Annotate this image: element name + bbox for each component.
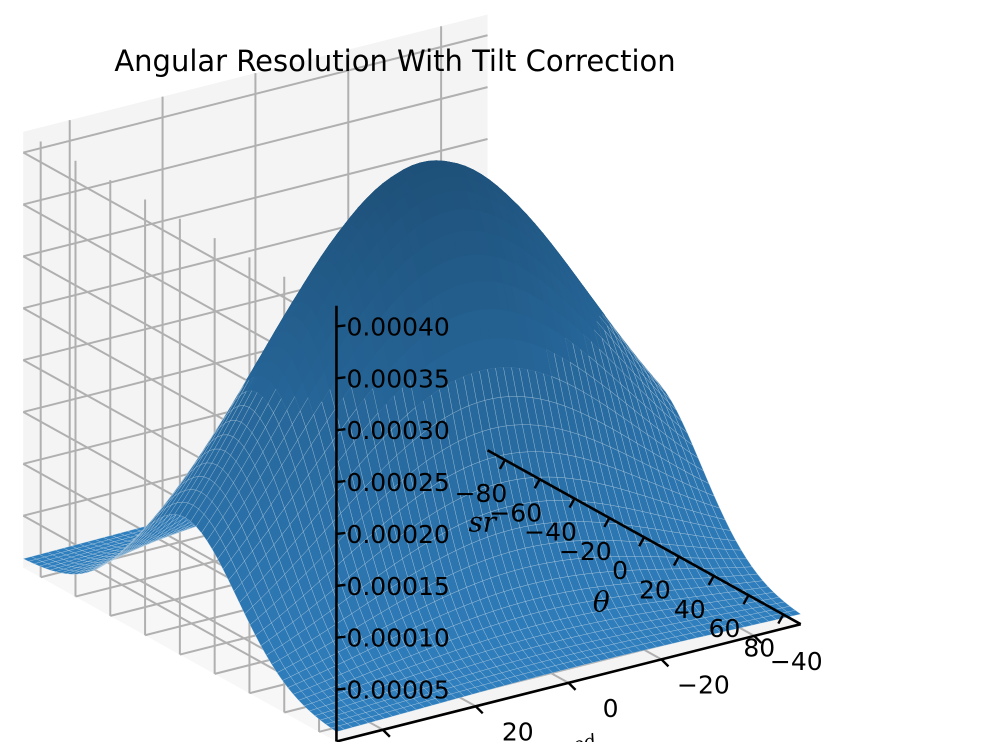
ticklabel-x-6: 40 <box>674 595 706 624</box>
tickmark-y <box>383 730 390 737</box>
page-title: Angular Resolution With Tilt Correction <box>0 44 790 78</box>
ticklabel-y-2: 0 <box>603 694 619 723</box>
tickmark-z <box>336 585 345 586</box>
tickmark-z <box>336 377 345 378</box>
axis-label-y-base: θ <box>596 734 621 742</box>
ticklabel-x-3: −20 <box>559 537 612 566</box>
tickmark-z <box>336 325 345 326</box>
ticklabel-y-1: −20 <box>677 670 730 699</box>
tickmark-z <box>336 637 345 638</box>
ticklabel-z-7: 0.00040 <box>346 312 449 341</box>
axis-label-y: θpolar <box>543 727 621 742</box>
ticklabel-z-6: 0.00035 <box>346 364 449 393</box>
ticklabel-x-5: 20 <box>639 576 671 605</box>
ticklabel-z-0: 0.00005 <box>346 676 449 705</box>
ticklabel-y-0: −40 <box>770 647 823 676</box>
tickmark-z <box>336 429 345 430</box>
ticklabel-z-5: 0.00030 <box>346 416 449 445</box>
tickmark-z <box>336 533 345 534</box>
tickmark-y <box>569 683 576 690</box>
ticklabel-z-4: 0.00025 <box>346 468 449 497</box>
tickmark-z <box>336 481 345 482</box>
surface-3d-plot: −80−60−40−20020406080−40−20020400.000050… <box>0 0 982 742</box>
axis-label-y-subscript: polar <box>543 732 599 742</box>
tickmark-z <box>336 689 345 690</box>
ticklabel-z-2: 0.00015 <box>346 572 449 601</box>
tickmark-y <box>476 706 483 713</box>
ticklabel-x-7: 60 <box>709 614 741 643</box>
ticklabel-z-3: 0.00020 <box>346 520 449 549</box>
ticklabel-z-1: 0.00010 <box>346 624 449 653</box>
axis-label-x: θ <box>593 586 610 619</box>
axis-label-z: sr <box>468 506 497 539</box>
tickmark-y <box>661 659 668 666</box>
ticklabel-x-4: 0 <box>612 556 628 585</box>
ticklabel-y-3: 20 <box>502 717 534 742</box>
figure-canvas: Angular Resolution With Tilt Correction … <box>0 0 982 742</box>
